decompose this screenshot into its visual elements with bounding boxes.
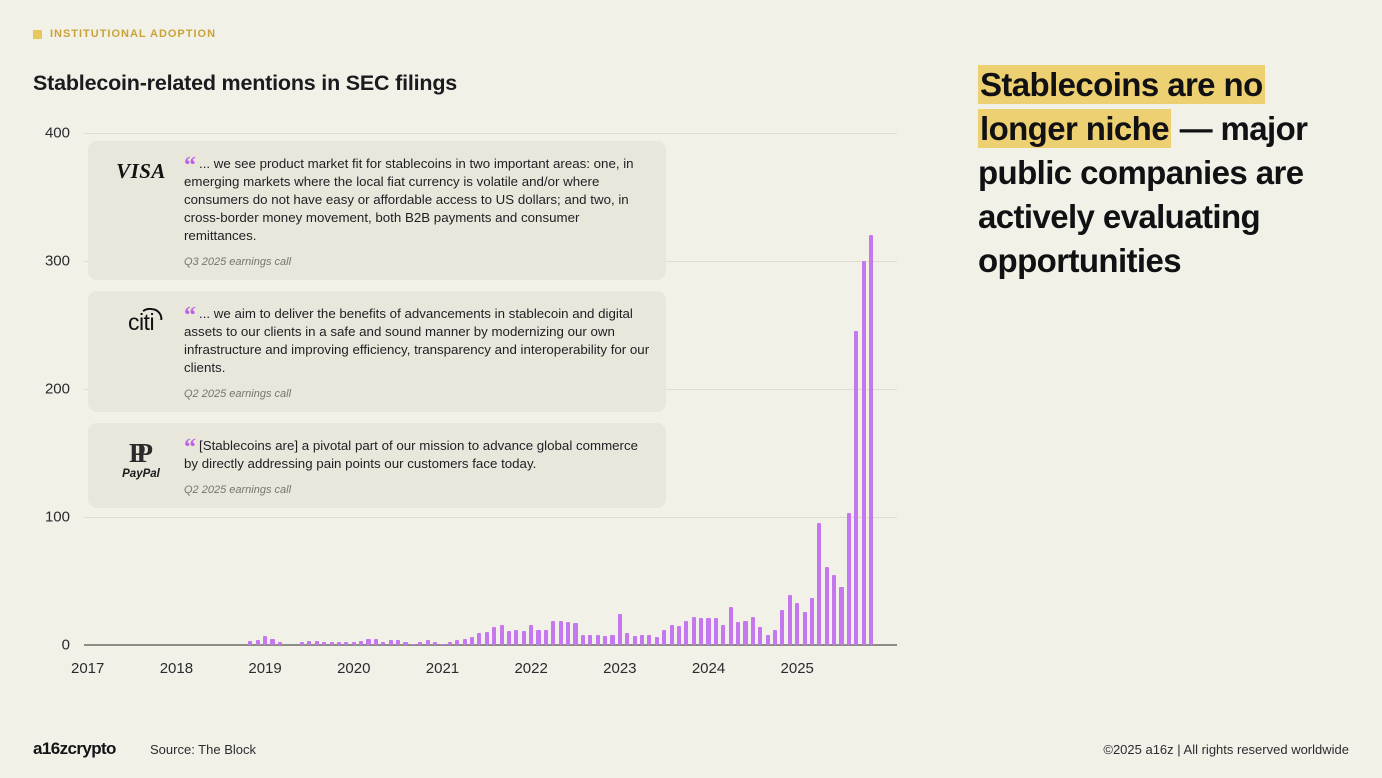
chart-bar (581, 635, 585, 645)
chart-y-tick-label: 200 (45, 381, 70, 398)
chart-bar (352, 642, 356, 645)
chart-bar (647, 635, 651, 645)
chart-bar (573, 623, 577, 645)
quote-card-body: “[Stablecoins are] a pivotal part of our… (180, 437, 650, 496)
quote-card-body: “... we aim to deliver the benefits of a… (180, 305, 650, 400)
quote-source: Q2 2025 earnings call (184, 388, 650, 400)
chart-bar (411, 644, 415, 646)
quote-text-wrap: “... we see product market fit for stabl… (184, 155, 650, 245)
chart-bar (625, 633, 629, 645)
chart-bar (492, 627, 496, 645)
chart-bar (300, 642, 304, 645)
chart-bar (315, 641, 319, 645)
chart-y-tick-label: 300 (45, 253, 70, 270)
chart-bar (551, 621, 555, 645)
chart-bar (344, 642, 348, 645)
chart-bar (847, 513, 851, 645)
quote-card-paypal: PP PayPal “[Stablecoins are] a pivotal p… (88, 423, 666, 508)
chart-bar (714, 618, 718, 645)
quote-mark-icon: “ (184, 153, 196, 179)
chart-bar (706, 618, 710, 645)
chart-bar (529, 625, 533, 645)
chart-bar (803, 612, 807, 645)
yellow-square-bullet-icon (33, 30, 42, 39)
chart-bar (810, 598, 814, 645)
quote-mark-icon: “ (184, 303, 196, 329)
chart-x-tick-label: 2022 (514, 660, 547, 677)
chart-y-tick-label: 100 (45, 509, 70, 526)
quote-card-visa: VISA “... we see product market fit for … (88, 141, 666, 280)
chart-bar (633, 636, 637, 645)
chart-bar (374, 639, 378, 645)
chart-x-tick-label: 2017 (71, 660, 104, 677)
chart-bar (839, 587, 843, 645)
slide-root: INSTITUTIONAL ADOPTION Stablecoin-relate… (0, 0, 1382, 778)
chart-bar (536, 630, 540, 645)
chart-bar (588, 635, 592, 645)
chart-bar (322, 642, 326, 645)
chart-bar (788, 595, 792, 645)
eyebrow-label: INSTITUTIONAL ADOPTION (50, 28, 216, 40)
chart-bar (729, 607, 733, 645)
chart-bar (440, 644, 444, 646)
chart-bar (448, 642, 452, 645)
chart-bar (692, 617, 696, 645)
page-title: Stablecoin-related mentions in SEC filin… (33, 71, 457, 96)
chart-y-tick-label: 400 (45, 125, 70, 142)
quote-card-citi: citi “... we aim to deliver the benefits… (88, 291, 666, 412)
chart-bar (751, 617, 755, 645)
chart-bar (278, 642, 282, 645)
chart-bar (248, 641, 252, 645)
chart-bar (366, 639, 370, 645)
chart-bar (766, 635, 770, 645)
citi-arc-icon (138, 307, 163, 320)
chart-bar (610, 635, 614, 645)
chart-bar (670, 625, 674, 645)
chart-bar (522, 631, 526, 645)
chart-x-tick-label: 2023 (603, 660, 636, 677)
brand-logo: a16zcrypto (33, 739, 116, 759)
chart-bar (396, 640, 400, 645)
chart-x-tick-label: 2019 (248, 660, 281, 677)
chart-bar (825, 567, 829, 645)
chart-bar (263, 636, 267, 645)
chart-x-axis: 201720182019202020212022202320242025 (84, 660, 897, 684)
eyebrow: INSTITUTIONAL ADOPTION (33, 28, 216, 40)
visa-logo-icon: VISA (102, 155, 180, 268)
chart-bar (337, 642, 341, 645)
chart-bar (500, 625, 504, 645)
chart-x-tick-label: 2021 (426, 660, 459, 677)
chart-bar (463, 639, 467, 645)
chart-bar (426, 640, 430, 645)
quote-text: ... we see product market fit for stable… (184, 156, 634, 243)
quote-text: ... we aim to deliver the benefits of ad… (184, 306, 649, 375)
chart-bar (455, 640, 459, 645)
chart-bar (832, 575, 836, 645)
quote-source: Q2 2025 earnings call (184, 484, 650, 496)
chart-bar (603, 636, 607, 645)
chart-bar (699, 618, 703, 645)
chart-bar (256, 640, 260, 645)
chart-bar (862, 261, 866, 645)
chart-x-tick-label: 2025 (781, 660, 814, 677)
chart-bar (640, 635, 644, 645)
chart-bar (381, 642, 385, 645)
chart-bar (795, 603, 799, 645)
quote-text-wrap: “... we aim to deliver the benefits of a… (184, 305, 650, 377)
chart-bar (418, 642, 422, 645)
chart-bar (507, 631, 511, 645)
chart-bar (758, 627, 762, 645)
chart-bar (780, 610, 784, 645)
quote-mark-icon: “ (184, 435, 196, 461)
quote-card-list: VISA “... we see product market fit for … (88, 141, 666, 519)
chart-bar (433, 642, 437, 645)
chart-bar (270, 639, 274, 645)
chart-bar (817, 523, 821, 645)
chart-bar (330, 642, 334, 645)
chart-bar (485, 632, 489, 645)
chart-bar (470, 637, 474, 645)
chart-bar (514, 630, 518, 645)
quote-text-wrap: “[Stablecoins are] a pivotal part of our… (184, 437, 650, 473)
chart-bar (544, 630, 548, 645)
chart-bar (389, 640, 393, 645)
citi-logo-icon: citi (102, 305, 180, 400)
chart-bar (559, 621, 563, 645)
chart-bar (307, 641, 311, 645)
chart-bar (403, 642, 407, 645)
chart-bar (477, 633, 481, 645)
chart-bar (566, 622, 570, 645)
chart-bar (743, 621, 747, 645)
chart-bar (684, 621, 688, 645)
chart-bar (721, 625, 725, 645)
chart-bar (359, 641, 363, 645)
quote-card-body: “... we see product market fit for stabl… (180, 155, 650, 268)
paypal-p-mark-icon: PP (129, 441, 153, 465)
chart-bar (773, 630, 777, 645)
copyright-notice: ©2025 a16z | All rights reserved worldwi… (1103, 742, 1349, 757)
chart-bar (618, 614, 622, 645)
chart-bar (655, 637, 659, 645)
chart-y-tick-label: 0 (62, 637, 70, 654)
quote-source: Q3 2025 earnings call (184, 256, 650, 268)
chart-bar (677, 626, 681, 645)
chart-bar (736, 622, 740, 645)
chart-bar (596, 635, 600, 645)
chart-x-tick-label: 2018 (160, 660, 193, 677)
chart-bar (869, 235, 873, 645)
chart-bar (662, 630, 666, 645)
quote-text: [Stablecoins are] a pivotal part of our … (184, 438, 638, 471)
headline: Stablecoins are no longer niche — major … (978, 63, 1348, 283)
chart-x-tick-label: 2024 (692, 660, 725, 677)
paypal-logo-icon: PP PayPal (102, 437, 180, 496)
source-credit: Source: The Block (150, 742, 256, 757)
chart-x-tick-label: 2020 (337, 660, 370, 677)
chart-bar (854, 331, 858, 645)
